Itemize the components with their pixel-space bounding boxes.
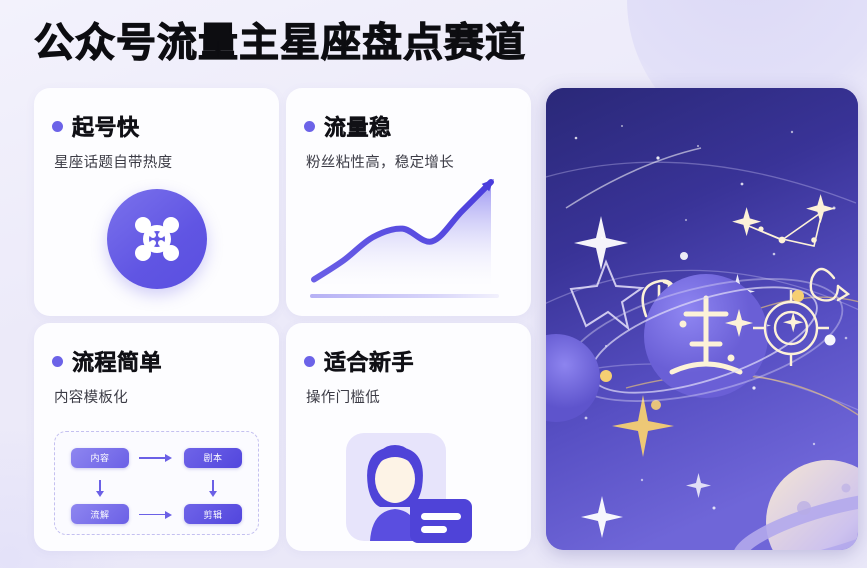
bullet-dot-icon <box>304 121 315 132</box>
growth-chart-svg <box>308 168 509 294</box>
flow-node-3: 流解 <box>71 504 129 524</box>
bullet-dot-icon <box>52 121 63 132</box>
card-subtitle: 星座话题自带热度 <box>54 151 261 172</box>
card-header: 流量稳 <box>304 110 513 142</box>
feature-card-grid: 起号快 星座话题自带热度 <box>34 88 531 548</box>
poster-root: 公众号流量主星座盘点赛道 起号快 星座话题自带热度 <box>0 0 867 568</box>
planet-central <box>644 274 768 398</box>
feature-card-liuchengjiandan[interactable]: 流程简单 内容模板化 内容 剧本 流解 剪辑 <box>34 323 279 551</box>
space-illustration-panel <box>546 88 858 550</box>
feature-card-qihaokuai[interactable]: 起号快 星座话题自带热度 <box>34 88 279 316</box>
flow-node-2: 剧本 <box>184 448 242 468</box>
card-title: 流量稳 <box>324 110 392 142</box>
flow-node-4: 剪辑 <box>184 504 242 524</box>
person-avatar-icon <box>328 431 478 551</box>
flow-arrow-right-bottom <box>137 509 177 519</box>
feature-card-liuliangwen[interactable]: 流量稳 粉丝粘性高，稳定增长 <box>286 88 531 316</box>
page-title: 公众号流量主星座盘点赛道 <box>34 18 526 68</box>
network-hub-icon <box>107 189 207 289</box>
card-header: 适合新手 <box>304 345 513 377</box>
bullet-dot-icon <box>52 356 63 367</box>
flow-diagram: 内容 剧本 流解 剪辑 <box>54 431 259 535</box>
card-artwork <box>34 176 279 316</box>
bullet-dot-icon <box>304 356 315 367</box>
flow-arrow-down-right <box>208 480 218 498</box>
card-subtitle: 内容模板化 <box>54 386 261 407</box>
card-title: 起号快 <box>72 110 140 142</box>
flow-arrow-down-left <box>95 480 105 498</box>
card-title: 适合新手 <box>324 345 414 377</box>
feature-card-shihexinshou[interactable]: 适合新手 操作门槛低 <box>286 323 531 551</box>
flow-node-1: 内容 <box>71 448 129 468</box>
growth-chart <box>308 168 509 298</box>
card-header: 流程简单 <box>52 345 261 377</box>
chart-baseline <box>310 294 499 298</box>
card-header: 起号快 <box>52 110 261 142</box>
card-subtitle: 操作门槛低 <box>306 386 513 407</box>
flow-arrow-right-top <box>137 453 177 463</box>
card-title: 流程简单 <box>72 345 162 377</box>
